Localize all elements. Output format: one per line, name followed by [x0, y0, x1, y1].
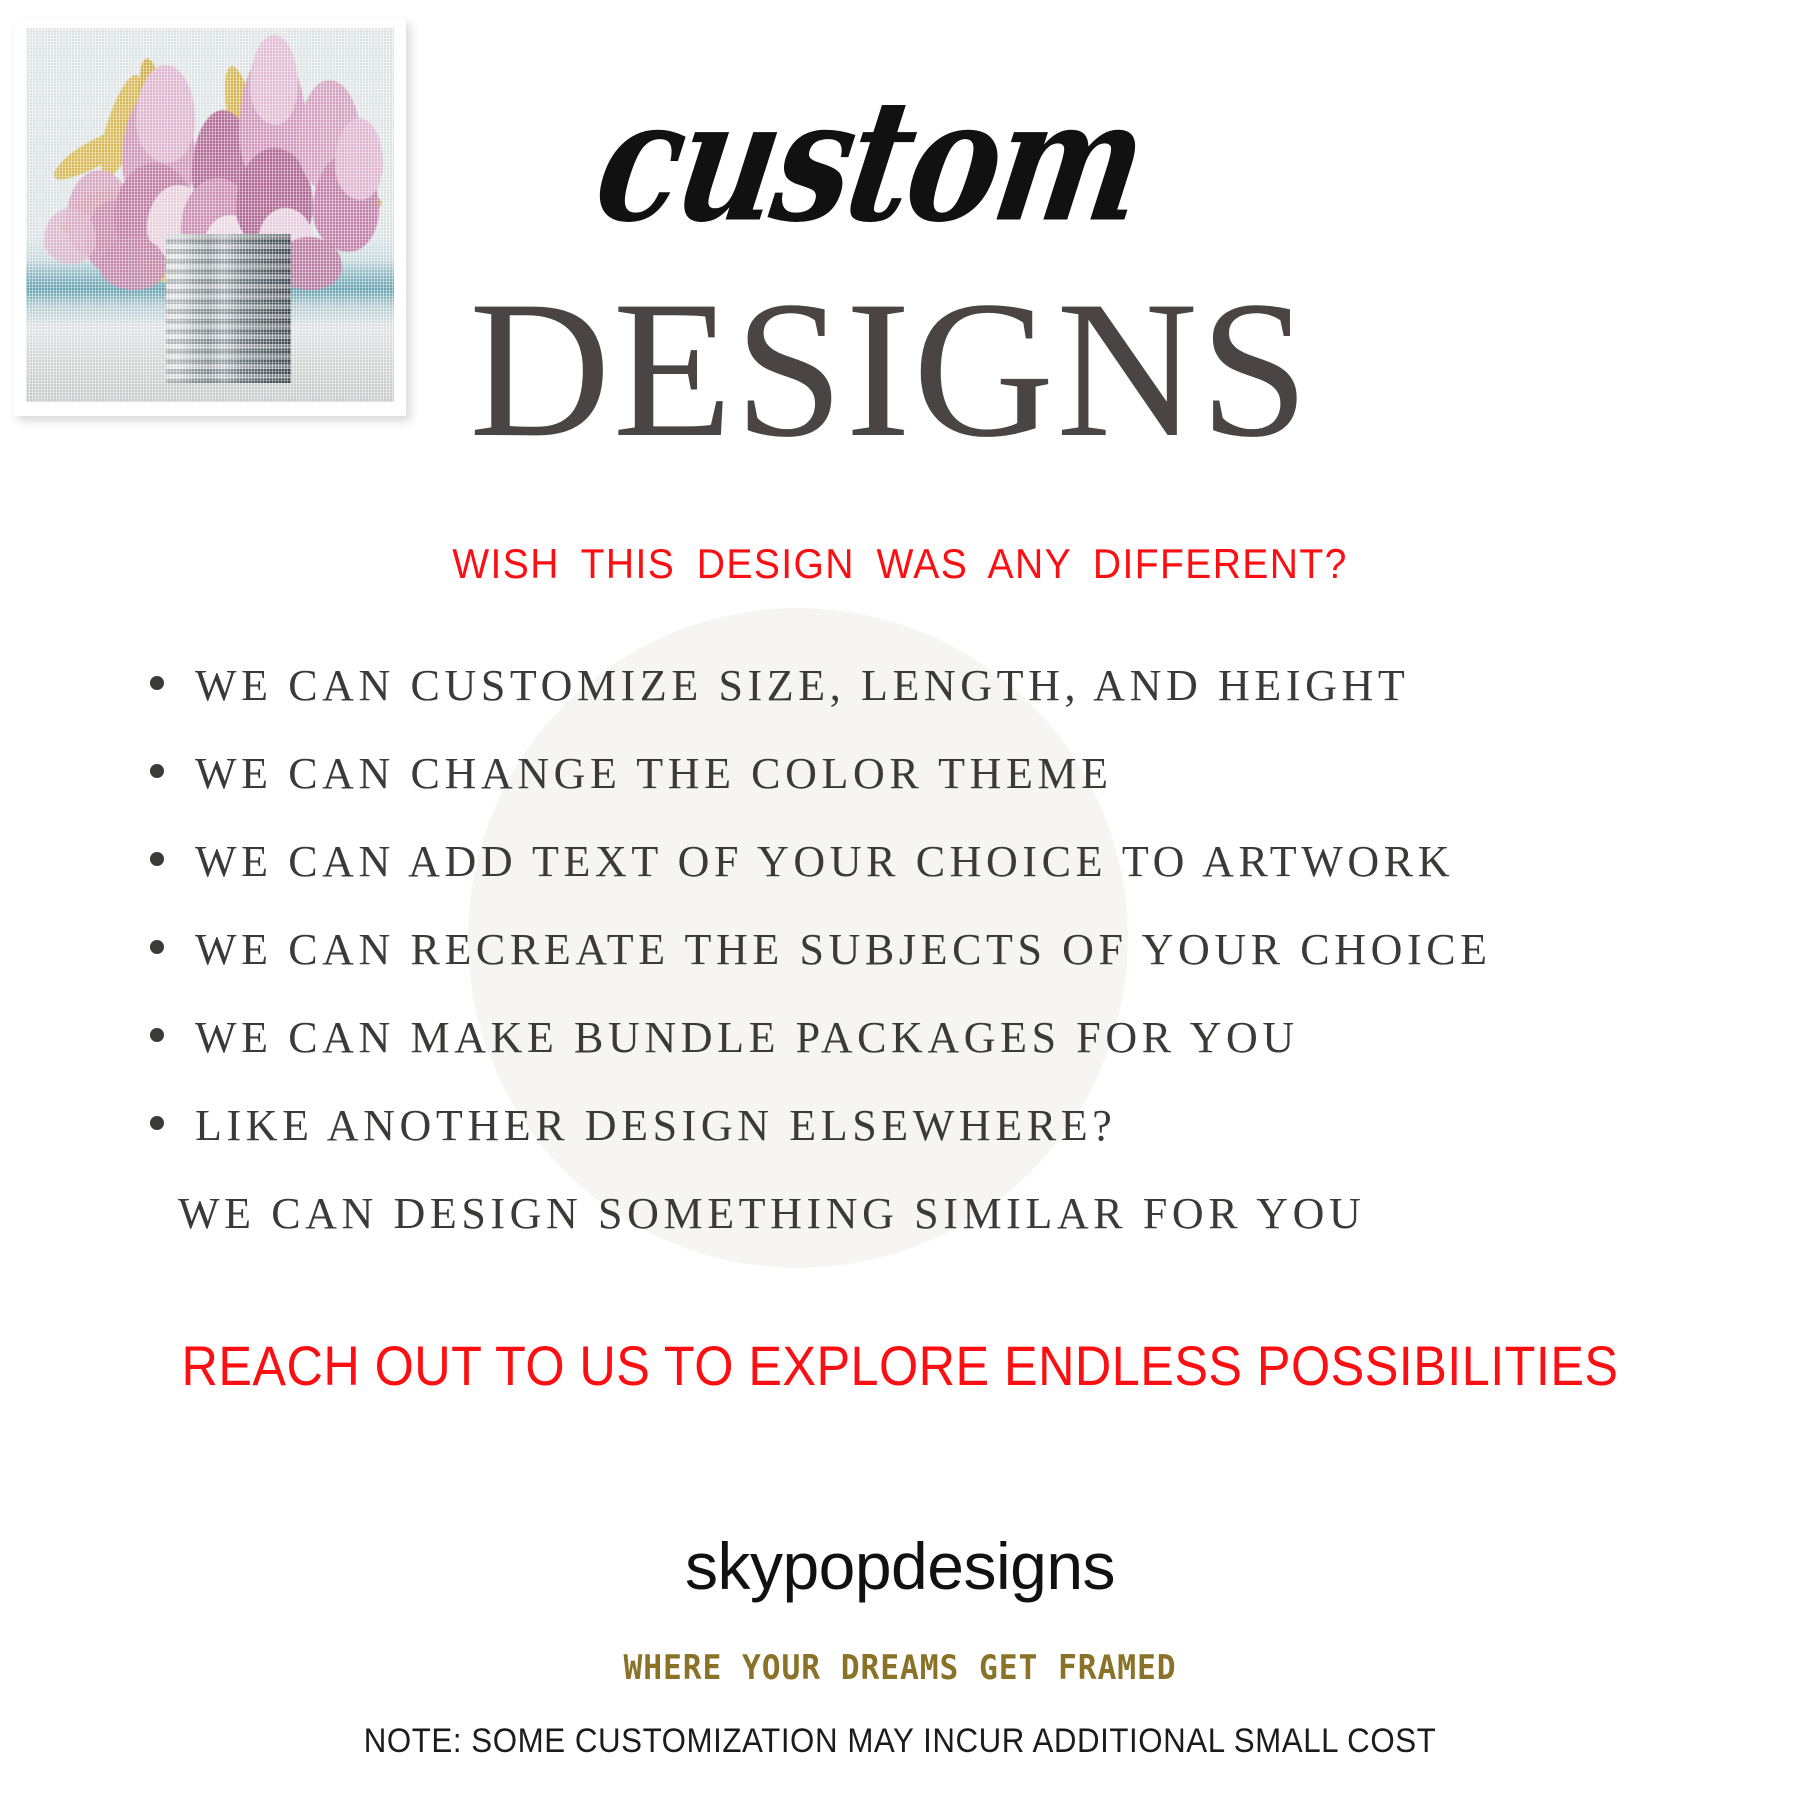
weathered-wood-pot	[166, 234, 291, 384]
list-item: WE CAN RECREATE THE SUBJECTS OF YOUR CHO…	[150, 924, 1710, 1012]
brand-tagline: WHERE YOUR DREAMS GET FRAMED	[72, 1648, 1728, 1688]
bullet-dot-icon	[150, 1116, 164, 1130]
list-item-label: WE CAN ADD TEXT OF YOUR CHOICE TO ARTWOR…	[195, 836, 1454, 887]
list-item-continuation-label: WE CAN DESIGN SOMETHING SIMILAR FOR YOU	[178, 1188, 1365, 1239]
blossom-cluster	[335, 118, 383, 200]
subheading-question: WISH THIS DESIGN WAS ANY DIFFERENT?	[63, 540, 1737, 588]
list-item-label: LIKE ANOTHER DESIGN ELSEWHERE?	[195, 1100, 1116, 1151]
list-item: WE CAN MAKE BUNDLE PACKAGES FOR YOU	[150, 1012, 1710, 1100]
blossom-cluster	[44, 208, 96, 264]
bullet-dot-icon	[150, 852, 164, 866]
list-item: LIKE ANOTHER DESIGN ELSEWHERE?	[150, 1100, 1710, 1188]
list-item: WE CAN ADD TEXT OF YOUR CHOICE TO ARTWOR…	[150, 836, 1710, 924]
footnote-disclaimer: NOTE: SOME CUSTOMIZATION MAY INCUR ADDIT…	[72, 1722, 1728, 1761]
page-title: DESIGNS	[340, 272, 1440, 468]
custom-script-heading: custom	[407, 77, 1334, 245]
blossom-cluster	[250, 35, 298, 125]
list-item-continuation: WE CAN DESIGN SOMETHING SIMILAR FOR YOU	[150, 1188, 1710, 1276]
bullet-dot-icon	[150, 1028, 164, 1042]
bullet-dot-icon	[150, 940, 164, 954]
promo-graphic-page: custom DESIGNS WISH THIS DESIGN WAS ANY …	[0, 0, 1800, 1800]
features-list: WE CAN CUSTOMIZE SIZE, LENGTH, AND HEIGH…	[150, 660, 1710, 1276]
artwork-canvas	[26, 28, 394, 402]
list-item-label: WE CAN CHANGE THE COLOR THEME	[195, 748, 1113, 799]
list-item-label: WE CAN MAKE BUNDLE PACKAGES FOR YOU	[195, 1012, 1299, 1063]
bullet-dot-icon	[150, 764, 164, 778]
call-to-action-text: REACH OUT TO US TO EXPLORE ENDLESS POSSI…	[90, 1333, 1710, 1398]
list-item: WE CAN CUSTOMIZE SIZE, LENGTH, AND HEIGH…	[150, 660, 1710, 748]
bullet-dot-icon	[150, 676, 164, 690]
list-item-label: WE CAN RECREATE THE SUBJECTS OF YOUR CHO…	[195, 924, 1492, 975]
blossom-cluster	[136, 65, 195, 162]
list-item-label: WE CAN CUSTOMIZE SIZE, LENGTH, AND HEIGH…	[195, 660, 1409, 711]
brand-logo-text: skypopdesigns	[0, 1528, 1800, 1604]
artwork-thumbnail[interactable]	[14, 18, 406, 416]
list-item: WE CAN CHANGE THE COLOR THEME	[150, 748, 1710, 836]
blossom-cluster	[100, 237, 166, 289]
